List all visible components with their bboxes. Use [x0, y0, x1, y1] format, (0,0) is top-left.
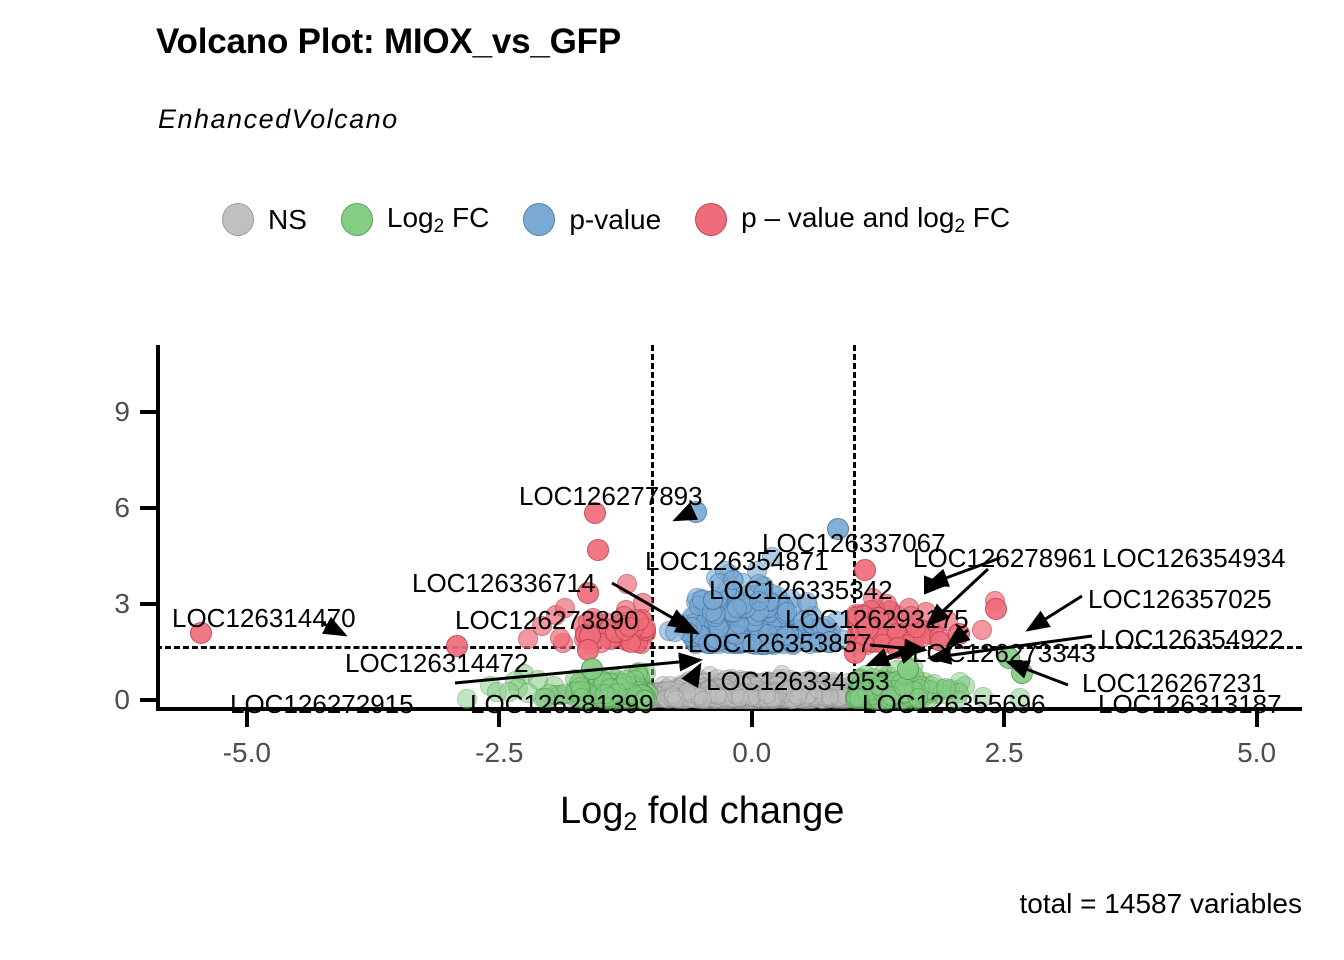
gene-label: LOC126313187	[1098, 691, 1282, 717]
gene-label: LOC126357025	[1088, 586, 1272, 612]
gene-label: LOC126354871	[645, 548, 829, 574]
scatter-point	[587, 539, 609, 561]
x-tick-label: 0.0	[732, 737, 771, 769]
legend-swatch-pvalue	[523, 203, 555, 236]
x-tick-label: -5.0	[223, 737, 271, 769]
y-tick-label: 3	[114, 588, 130, 620]
gene-label: LOC126353857	[688, 630, 872, 656]
gene-label: LOC126355696	[862, 691, 1046, 717]
y-tick	[140, 410, 156, 414]
scatter-point	[985, 598, 1007, 620]
x-tick-label: -2.5	[475, 737, 523, 769]
scatter-point	[887, 637, 909, 659]
x-tick	[750, 711, 754, 727]
page-subtitle: EnhancedVolcano	[158, 104, 399, 135]
total-variables-caption: total = 14587 variables	[1019, 888, 1302, 920]
legend: NS Log2 FC p-value p – value and log2 FC	[222, 203, 1010, 236]
x-tick-label: 2.5	[985, 737, 1024, 769]
legend-item-pvalue-and-log2fc[interactable]: p – value and log2 FC	[695, 203, 1010, 236]
legend-label-log2fc: Log2 FC	[387, 204, 489, 236]
gene-label: LOC126354922	[1100, 626, 1284, 652]
y-tick-label: 0	[114, 684, 130, 716]
legend-swatch-pvalue-and-log2fc	[695, 203, 727, 236]
gene-label: LOC126278961	[913, 545, 1097, 571]
legend-label-pvalue: p-value	[569, 206, 661, 234]
x-axis-title: Log2 fold change	[560, 790, 844, 837]
scatter-point	[972, 620, 992, 640]
y-tick	[140, 602, 156, 606]
x-tick-label: 5.0	[1237, 737, 1276, 769]
legend-item-ns[interactable]: NS	[222, 203, 307, 236]
gene-label: LOC126277893	[519, 483, 703, 509]
page-title: Volcano Plot: MIOX_vs_GFP	[156, 22, 621, 62]
scatter-point	[581, 658, 603, 680]
legend-label-pvalue-and-log2fc: p – value and log2 FC	[741, 204, 1010, 236]
scatter-point	[617, 574, 637, 594]
legend-item-pvalue[interactable]: p-value	[523, 203, 661, 236]
gene-label: LOC126314472	[345, 650, 529, 676]
y-tick	[140, 506, 156, 510]
gene-label: LOC126314470	[172, 605, 356, 631]
gene-label: LOC126335342	[709, 577, 893, 603]
gene-label: LOC126273343	[912, 640, 1096, 666]
y-tick-label: 6	[114, 492, 130, 524]
legend-item-log2fc[interactable]: Log2 FC	[341, 203, 489, 236]
gene-label: LOC126336714	[412, 570, 596, 596]
gene-label: LOC126272915	[230, 691, 414, 717]
log2fc-threshold-line	[651, 345, 654, 711]
gene-label: LOC126281399	[470, 691, 654, 717]
legend-label-ns: NS	[268, 206, 307, 234]
y-tick	[140, 698, 156, 702]
legend-swatch-log2fc	[341, 203, 373, 236]
y-axis-line	[156, 345, 160, 711]
legend-swatch-ns	[222, 203, 254, 236]
gene-label: LOC126354934	[1102, 545, 1286, 571]
y-tick-label: 9	[114, 396, 130, 428]
scatter-point	[665, 622, 685, 642]
gene-label: LOC126273890	[455, 607, 639, 633]
